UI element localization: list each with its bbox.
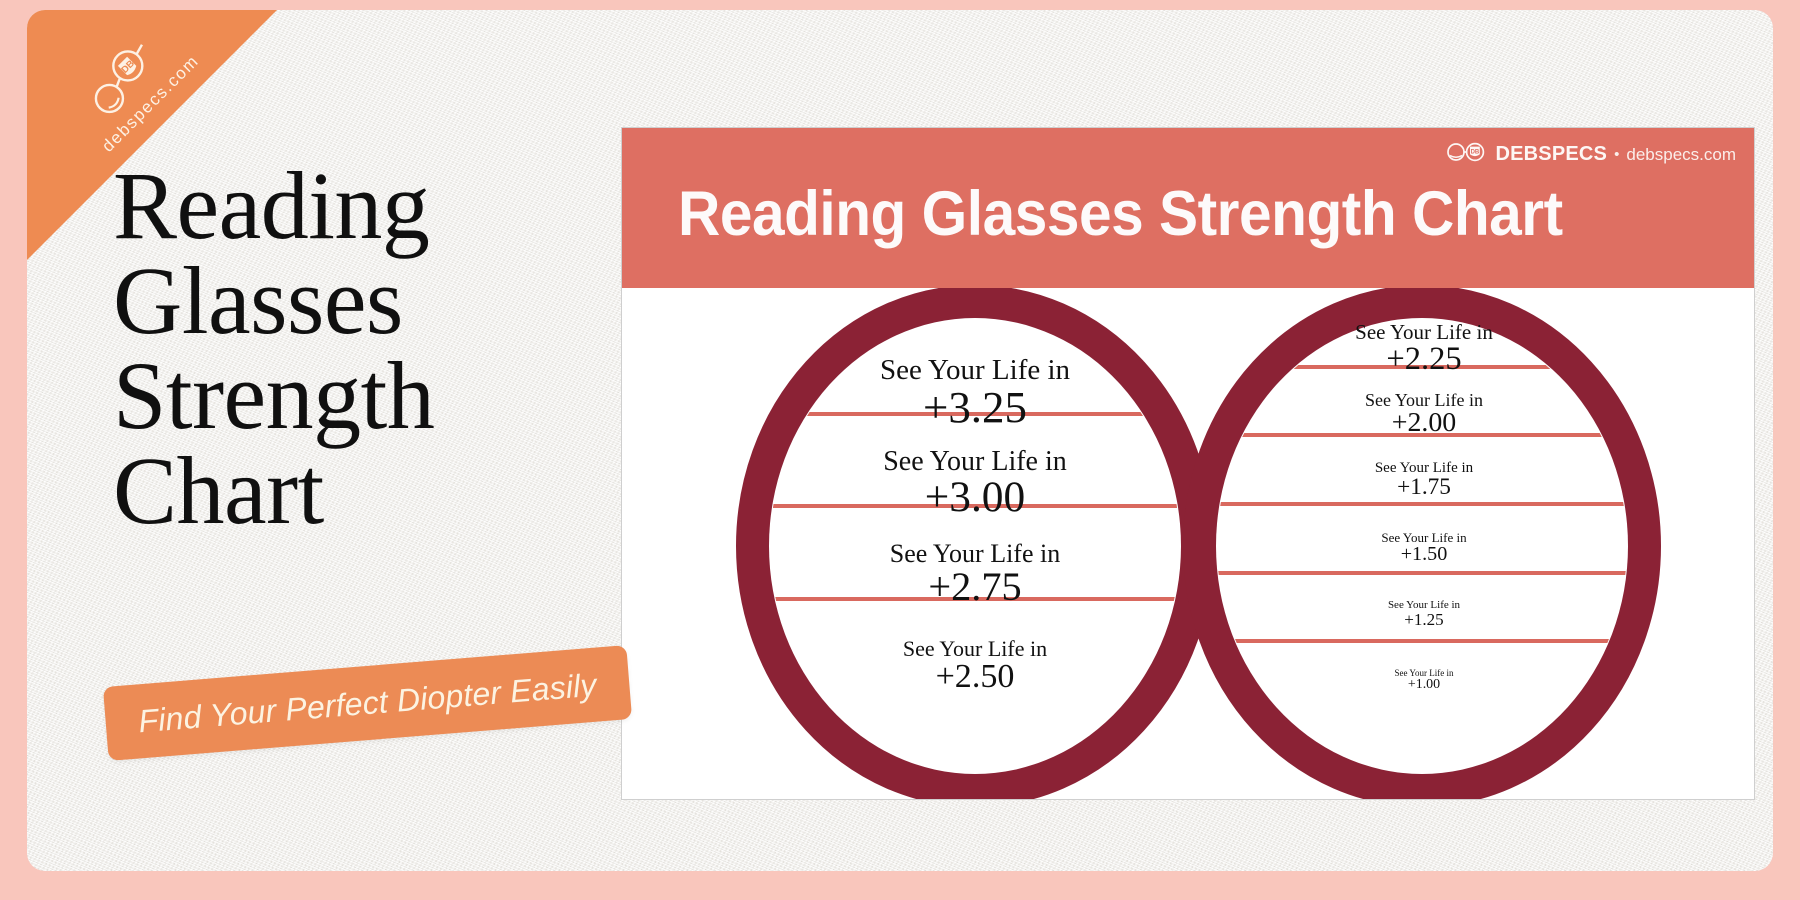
title-line-2: Glasses — [113, 253, 583, 348]
corner-ribbon — [27, 10, 277, 260]
right-lens-row-3: See Your Life in +1.75 — [1218, 461, 1630, 499]
row-value: +3.00 — [769, 476, 1181, 519]
chart-header: DB DEBSPECS • debspecs.com Reading Glass… — [622, 128, 1754, 288]
glasses-logo-icon: DB — [1446, 142, 1488, 167]
title-line-3: Strength — [113, 348, 583, 443]
left-lens-row-3: See Your Life in +2.75 — [769, 541, 1181, 607]
right-lens-row-5: See Your Life in +1.25 — [1218, 600, 1630, 628]
tagline-ribbon: Find Your Perfect Diopter Easily — [103, 645, 632, 761]
right-lens-row-4: See Your Life in +1.50 — [1218, 531, 1630, 564]
row-value: +1.00 — [1218, 678, 1630, 692]
poster-root: DB debspecs.com Reading Glasses Strength… — [0, 0, 1800, 900]
right-lens-row-2: See Your Life in +2.00 — [1218, 391, 1630, 437]
row-value: +1.25 — [1218, 611, 1630, 628]
svg-text:DB: DB — [1471, 149, 1480, 155]
left-lens-row-1: See Your Life in +3.25 — [769, 356, 1181, 430]
left-lens-text: See Your Life in +3.25 See Your Life in … — [769, 318, 1181, 774]
chart-brand-name: DEBSPECS — [1495, 143, 1607, 166]
right-lens-row-6: See Your Life in +1.00 — [1218, 669, 1630, 692]
row-value: +2.50 — [769, 660, 1181, 694]
glasses-diagram: See Your Life in +3.25 See Your Life in … — [622, 288, 1754, 800]
row-value: +2.75 — [769, 567, 1181, 607]
row-caption: See Your Life in — [1218, 322, 1630, 343]
tagline-text: Find Your Perfect Diopter Easily — [137, 666, 598, 740]
row-value: +2.00 — [1218, 409, 1630, 437]
right-lens-row-1: See Your Life in +2.25 — [1218, 322, 1630, 376]
row-caption: See Your Life in — [769, 448, 1181, 476]
strength-chart-card: DB DEBSPECS • debspecs.com Reading Glass… — [621, 127, 1755, 800]
row-value: +2.25 — [1218, 343, 1630, 376]
chart-title: Reading Glasses Strength Chart — [678, 178, 1563, 250]
brand-separator-dot: • — [1614, 146, 1619, 163]
title-line-4: Chart — [113, 443, 583, 538]
row-value: +3.25 — [769, 385, 1181, 430]
left-lens-row-4: See Your Life in +2.50 — [769, 638, 1181, 694]
chart-brand-site: debspecs.com — [1626, 145, 1736, 165]
row-caption: See Your Life in — [769, 638, 1181, 660]
row-value: +1.50 — [1218, 544, 1630, 564]
row-value: +1.75 — [1218, 476, 1630, 499]
left-lens-row-2: See Your Life in +3.00 — [769, 448, 1181, 519]
paper-panel: DB debspecs.com Reading Glasses Strength… — [27, 10, 1773, 871]
right-lens-text: See Your Life in +2.25 See Your Life in … — [1218, 318, 1630, 774]
row-caption: See Your Life in — [769, 356, 1181, 385]
chart-brand: DB DEBSPECS • debspecs.com — [1446, 142, 1736, 167]
